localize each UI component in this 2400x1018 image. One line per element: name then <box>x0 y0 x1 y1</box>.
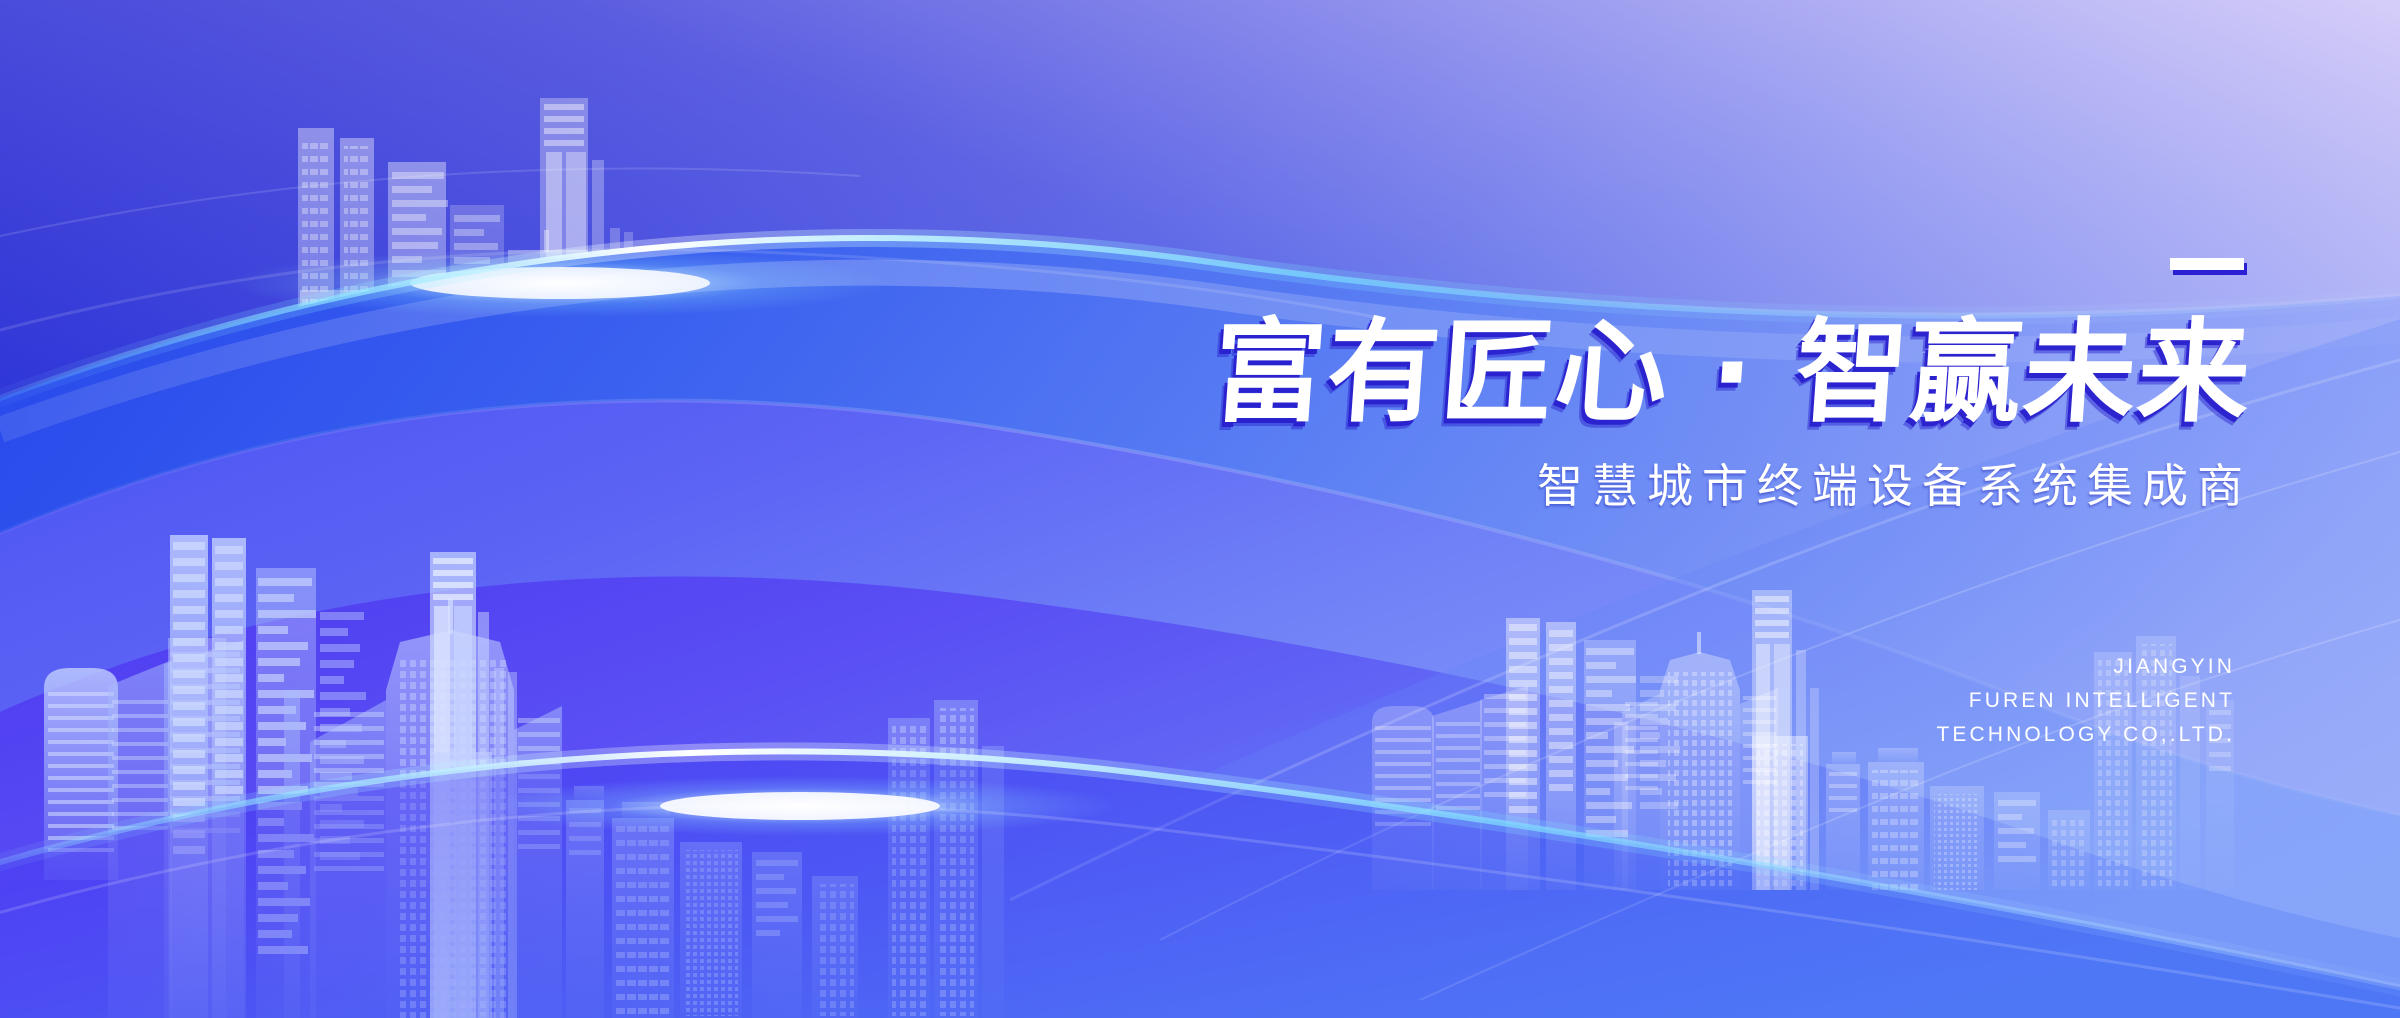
promotional-banner: 富有匠心 · 智赢未来 智慧城市终端设备系统集成商 JIANGYIN FUREN… <box>0 0 2400 1018</box>
page-title: 富有匠心 · 智赢未来 <box>1068 314 2256 433</box>
accent-dash-decoration <box>2170 258 2244 270</box>
company-line-suffix: TECHNOLOGY CO,.LTD. <box>1937 718 2236 752</box>
company-line-city: JIANGYIN <box>1937 650 2236 684</box>
company-line-name: FUREN INTELLIGENT <box>1937 684 2236 718</box>
headline-block: 富有匠心 · 智赢未来 智慧城市终端设备系统集成商 <box>1072 258 2252 514</box>
page-subtitle: 智慧城市终端设备系统集成商 <box>1072 459 2252 514</box>
company-name-block: JIANGYIN FUREN INTELLIGENT TECHNOLOGY CO… <box>1937 650 2236 752</box>
